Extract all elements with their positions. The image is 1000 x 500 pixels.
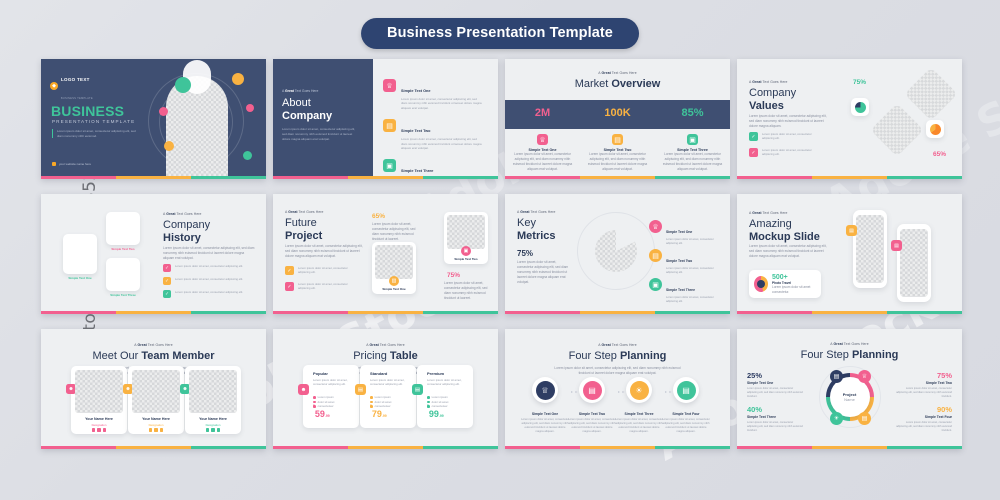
metric-title: Simple Text Two (666, 259, 692, 263)
logo[interactable]: ◆ LOGO TEXT BUSINESS TEMPLATE (50, 68, 93, 104)
slide-pricing-table[interactable]: A Great Text Goes Here Pricing Table Lor… (273, 329, 498, 449)
slide-company-history[interactable]: Simple Text One Simple Text Two Simple T… (41, 194, 266, 314)
photo-caption: Simple Text Two (444, 257, 488, 261)
photo-caption: Simple Text One (63, 276, 97, 280)
photo-card[interactable]: ▥ Simple Text One (372, 242, 416, 294)
slide-business-title[interactable]: ◆ LOGO TEXT BUSINESS TEMPLATE BUSINESS P… (41, 59, 266, 179)
slide-title: FutureProject (285, 217, 322, 242)
slide-title: CompanyValues (749, 87, 796, 112)
team-card[interactable]: ☻ Your Name Here Designation (185, 366, 241, 434)
feature-title: Simple Text Two (401, 129, 430, 133)
social-links[interactable] (71, 428, 127, 432)
briefcase-icon: ▤ (583, 381, 602, 400)
slide-description: Lorem ipsum dolor sit amet, consectetur … (749, 244, 827, 259)
slide-description: Lorem ipsum dolor sit amet, consectetur … (285, 244, 363, 259)
step-body: Lorem ipsum dolor sit amet, consectetur … (615, 418, 663, 434)
stat-value: 85% (655, 107, 730, 119)
slide-title: Four Step Planning (737, 349, 962, 362)
metric-row[interactable]: ♕ Simple Text One Lorem ipsum dolor sit … (649, 220, 722, 246)
stat-body: Lorem ipsum dolor sit amet, consectetur … (896, 421, 952, 433)
feature-body: Lorem ipsum dolor sit amet, consectetur … (401, 97, 483, 110)
website-label: your website name here (52, 162, 91, 166)
metric-title: Simple Text One (666, 230, 692, 234)
photo-caption: Simple Text Two (106, 247, 140, 251)
metric-body: Lorem ipsum dolor sit amet, consectetur … (666, 267, 722, 275)
stat-block[interactable]: 40% Simple Text Three Lorem ipsum dolor … (747, 405, 803, 433)
image-placeholder (63, 234, 97, 274)
donut-card (926, 120, 944, 138)
check-icon: ✓ (163, 277, 171, 285)
slide-description: Lorem ipsum dolor sit amet, consectetur … (52, 129, 138, 138)
plan-body: Lorem ipsum dolor sit amet, consectetur … (313, 378, 353, 386)
slide-footer-bar (737, 446, 962, 449)
stat-value: 100K (580, 107, 655, 119)
slide-footer-bar (505, 446, 730, 449)
eyebrow: A Great Text Goes Here (273, 343, 498, 347)
stat-title: Simple Text One (747, 381, 803, 385)
stat-title: Simple Text Three (747, 415, 803, 419)
stat-card[interactable]: 500+ Photo Travel Lorem ipsum dolor sit … (749, 270, 821, 298)
bank-icon: ▤ (677, 381, 696, 400)
image-placeholder (904, 67, 958, 121)
image-placeholder (132, 370, 180, 413)
stat-percent: 75% (447, 272, 460, 279)
slide-title: BUSINESS (51, 103, 124, 119)
image-placeholder (870, 103, 924, 157)
list-item[interactable]: ✓ Lorem ipsum dolor sit amet, consectetu… (163, 264, 247, 272)
slide-four-step-planning[interactable]: A Great Text Goes Here Four Step Plannin… (505, 329, 730, 449)
stat-body: Lorem ipsum dolor sit amet consectetur. (772, 285, 816, 295)
slide-market-overview[interactable]: A Great Text Goes Here Market Overview 2… (505, 59, 730, 179)
list-text: Lorem ipsum dolor sit amet, consectetur … (175, 277, 247, 285)
eyebrow: A Great Text Goes Here (737, 342, 962, 346)
stat-body: Lorem ipsum dolor sit amet, consectetur … (747, 387, 803, 399)
photo-caption: Simple Text Three (106, 293, 140, 297)
plan-name: Premium (427, 371, 444, 376)
pricing-card[interactable]: ▤ Premium Lorem ipsum dolor sit amet, co… (417, 365, 473, 428)
slide-subtitle: PRESENTATION TEMPLATE (52, 119, 135, 124)
member-name: Your Name Here (128, 417, 184, 421)
slide-header: A Great Text Goes Here Market Overview (505, 71, 730, 91)
slide-four-step-circle[interactable]: A Great Text Goes Here Four Step Plannin… (737, 329, 962, 449)
check-icon: ✓ (163, 290, 171, 298)
slide-footer-bar (41, 446, 266, 449)
step-circle: ▤ (673, 377, 699, 403)
slide-header: A Great Text Goes Here Four Step Plannin… (505, 343, 730, 376)
step-item[interactable]: ☀ Simple Text Three Lorem ipsum dolor si… (615, 377, 663, 434)
step-title: Simple Text One (521, 412, 569, 416)
briefcase-icon: ▤ (383, 119, 396, 132)
check-icon: ✓ (749, 148, 758, 157)
trophy-icon: ♕ (649, 220, 662, 233)
trophy-icon: ♕ (858, 370, 871, 383)
eyebrow: A Great Text Goes Here (505, 343, 730, 347)
check-item[interactable]: ✓ Lorem ipsum dolor sit amet, consectetu… (285, 282, 360, 291)
metric-body: Lorem ipsum dolor sit amet, consectetur … (666, 296, 722, 304)
slide-footer-bar (273, 311, 498, 314)
stat-body: Lorem ipsum dolor sit amet, consectetur … (896, 387, 952, 399)
metric-row[interactable]: ▤ Simple Text Two Lorem ipsum dolor sit … (649, 249, 722, 275)
donut-label-75: 75% (853, 79, 866, 86)
bubble-orange (232, 73, 244, 85)
plan-body: Lorem ipsum dolor sit amet, consectetur … (370, 378, 410, 386)
slide-title: Four Step Planning (505, 350, 730, 363)
plan-price: $99.99 (427, 404, 444, 422)
step-circle: ♕ (532, 377, 558, 403)
list-text: Lorem ipsum dolor sit amet, consectetur … (175, 290, 247, 298)
slide-footer-bar (273, 446, 498, 449)
eyebrow: A Great Text Goes Here (749, 211, 788, 215)
trophy-icon: ♕ (537, 134, 548, 145)
stat-title: Simple Text Two (896, 381, 952, 385)
step-body: Lorem ipsum dolor sit amet, consectetur … (568, 418, 616, 434)
image-placeholder (900, 229, 928, 297)
bullet-icon (52, 162, 56, 166)
donut-chart-75 (855, 102, 866, 113)
cart-icon: ▤ (412, 384, 423, 395)
team-card[interactable]: ☻ Your Name Here Designation (128, 366, 184, 434)
image-placeholder (189, 370, 237, 413)
briefcase-icon: ▤ (612, 134, 623, 145)
list-item[interactable]: ✓ Lorem ipsum dolor sit amet, consectetu… (163, 277, 247, 285)
phone-mockup[interactable] (897, 224, 931, 302)
photo-card[interactable]: ▣ Simple Text Two (444, 212, 488, 264)
stat-block[interactable]: 25% Simple Text One Lorem ipsum dolor si… (747, 371, 803, 399)
stat-body: Lorem ipsum dolor sit amet, consectetur … (512, 152, 573, 172)
logo-mark-icon: ◆ (50, 82, 58, 90)
feature-row[interactable]: ▤ Simple Text Two Lorem ipsum dolor sit … (383, 119, 483, 150)
step-title: Simple Text Three (615, 412, 663, 416)
eyebrow: A Great Text Goes Here (41, 343, 266, 347)
phone-mockup[interactable] (853, 210, 887, 288)
step-body: Lorem ipsum dolor sit amet, consectetur … (521, 418, 569, 434)
stat-column[interactable]: ▣ Simple Text Three Lorem ipsum dolor si… (655, 134, 730, 172)
stat-body: Lorem ipsum dolor sit amet, consectetur … (587, 152, 648, 172)
image-placeholder (75, 370, 123, 413)
stat-title: Simple Text Four (896, 415, 952, 419)
eyebrow: A Great Text Goes Here (282, 89, 318, 93)
check-text: Lorem ipsum dolor sit amet, consectetur … (298, 266, 360, 275)
image-placeholder (856, 215, 884, 283)
slide-title: KeyMetrics (517, 217, 556, 242)
pricing-card[interactable]: ☻ Popular Lorem ipsum dolor sit amet, co… (303, 365, 359, 428)
stat-body: Lorem ipsum dolor sit amet, consectetur … (372, 222, 416, 242)
page-title: Business Presentation Template (361, 18, 639, 49)
slide-title: Meet Our Team Member (41, 350, 266, 363)
slide-header: A Great Text Goes Here Four Step Plannin… (737, 342, 962, 362)
image-placeholder (106, 212, 140, 245)
eyebrow: A Great Text Goes Here (749, 80, 788, 84)
step-body: Lorem ipsum dolor sit amet, consectetur … (662, 418, 710, 434)
user-icon: ☻ (298, 384, 309, 395)
step-circle: ▤ (579, 377, 605, 403)
chart-icon: ▥ (389, 276, 399, 286)
person-photo-placeholder (166, 76, 228, 176)
stat-value: 2M (505, 107, 580, 119)
slide-future-project[interactable]: A Great Text Goes Here FutureProject Lor… (273, 194, 498, 314)
document-icon: ▣ (687, 134, 698, 145)
step-title: Simple Text Two (568, 412, 616, 416)
slide-footer-bar (273, 176, 498, 179)
social-links[interactable] (128, 428, 184, 432)
bulb-icon: ☀ (630, 381, 649, 400)
bubble-green (175, 77, 191, 93)
plan-price: $59.99 (313, 404, 330, 422)
camera-icon (754, 276, 768, 292)
stat-body: Lorem ipsum dolor sit amet, consectetur … (662, 152, 723, 172)
stat-block[interactable]: 75% Simple Text Two Lorem ipsum dolor si… (896, 371, 952, 399)
plan-price: $79.99 (370, 404, 387, 422)
briefcase-icon: ▤ (649, 249, 662, 262)
logo-text: LOGO TEXT (61, 77, 90, 82)
bag-icon: ▤ (355, 384, 366, 395)
slide-grid: ◆ LOGO TEXT BUSINESS TEMPLATE BUSINESS P… (41, 59, 963, 449)
slide-company-values[interactable]: A Great Text Goes Here CompanyValues Lor… (737, 59, 962, 179)
pricing-card[interactable]: ▤ Standard Lorem ipsum dolor sit amet, c… (360, 365, 416, 428)
donut-card (851, 98, 869, 116)
metric-percent: 75% (517, 249, 533, 258)
stat-percent: 65% (372, 213, 385, 220)
donut-chart-65 (930, 124, 941, 135)
step-item[interactable]: ▤ Simple Text Four Lorem ipsum dolor sit… (662, 377, 710, 434)
slide-title: Market Overview (505, 78, 730, 91)
bank-icon: ▤ (830, 370, 843, 383)
member-role: Designation (128, 423, 184, 427)
stat-percent: 40% (747, 405, 803, 414)
stat-percent: 25% (747, 371, 803, 380)
image-placeholder (447, 215, 485, 249)
stat-value: 500+ (772, 274, 816, 281)
logo-subtext: BUSINESS TEMPLATE (61, 97, 93, 100)
stat-column[interactable]: ▤ Simple Text Two Lorem ipsum dolor sit … (580, 134, 655, 172)
slide-footer-bar (737, 176, 962, 179)
bubble-orange (164, 141, 174, 151)
member-name: Your Name Here (71, 417, 127, 421)
slide-mockup[interactable]: A Great Text Goes Here AmazingMockup Sli… (737, 194, 962, 314)
briefcase-icon: ▤ (858, 412, 871, 425)
check-icon: ✓ (285, 266, 294, 275)
cart-icon: ▤ (891, 240, 902, 251)
bag-icon: ▤ (846, 225, 857, 236)
team-card[interactable]: ☻ Your Name Here Designation (71, 366, 127, 434)
eyebrow: A Great Text Goes Here (285, 210, 324, 214)
slide-key-metrics[interactable]: A Great Text Goes Here KeyMetrics 75% Lo… (505, 194, 730, 314)
slide-description: Lorem ipsum dolor sit amet, consectetur … (749, 114, 827, 129)
metric-title: Simple Text Three (666, 288, 695, 292)
document-icon: ▣ (461, 246, 471, 256)
step-title: Simple Text Four (662, 412, 710, 416)
bulb-icon: ☀ (830, 412, 843, 425)
stat-values: 2M 100K 85% (505, 107, 730, 119)
check-icon: ✓ (749, 132, 758, 141)
list-item[interactable]: ✓ Lorem ipsum dolor sit amet, consectetu… (163, 290, 247, 298)
slide-description: Lorem ipsum dolor sit amet, consectetur … (517, 260, 573, 285)
slide-footer-bar (737, 311, 962, 314)
list-text: Lorem ipsum dolor sit amet, consectetur … (175, 264, 247, 272)
social-links[interactable] (185, 428, 241, 432)
slide-team-member[interactable]: A Great Text Goes Here Meet Our Team Mem… (41, 329, 266, 449)
check-item[interactable]: ✓ Lorem ipsum dolor sit amet, consectetu… (285, 266, 360, 275)
image-placeholder (106, 258, 140, 291)
feature-rows: ♕ Simple Text One Lorem ipsum dolor sit … (383, 79, 483, 179)
hub-label: Project Name (830, 377, 870, 417)
document-icon: ▣ (649, 278, 662, 291)
website-text: your website name here (59, 162, 91, 166)
check-icon: ✓ (163, 264, 171, 272)
stat-body: Lorem ipsum dolor sit amet, consectetur … (747, 421, 803, 433)
slide-description: Lorem ipsum dolor sit amet, consectetur … (553, 366, 683, 376)
slide-footer-bar (41, 176, 266, 179)
plan-body: Lorem ipsum dolor sit amet, consectetur … (427, 378, 467, 386)
step-circle: ☀ (626, 377, 652, 403)
slide-title: AboutCompany (282, 97, 332, 122)
hub-line-2: Name (844, 397, 855, 402)
slide-title: CompanyHistory (163, 219, 210, 244)
metric-body: Lorem ipsum dolor sit amet, consectetur … (666, 238, 722, 246)
slide-footer-bar (505, 176, 730, 179)
photo-caption: Simple Text One (372, 287, 416, 291)
feature-title: Simple Text One (401, 89, 430, 93)
donut-label-65: 65% (933, 151, 946, 158)
bubble-pink (159, 107, 168, 116)
slide-about-company[interactable]: A Great Text Goes Here AboutCompany Lore… (273, 59, 498, 179)
member-role: Designation (185, 423, 241, 427)
feature-row[interactable]: ♕ Simple Text One Lorem ipsum dolor sit … (383, 79, 483, 110)
bubble-pink (246, 104, 254, 112)
slide-title: AmazingMockup Slide (749, 218, 820, 243)
stat-percent: 75% (896, 371, 952, 380)
slide-title: Pricing Table (273, 350, 498, 363)
slide-description: Lorem ipsum dolor sit amet, consectetur … (282, 127, 360, 141)
metric-row[interactable]: ▣ Simple Text Three Lorem ipsum dolor si… (649, 278, 722, 304)
stat-block[interactable]: 90% Simple Text Four Lorem ipsum dolor s… (896, 405, 952, 433)
slide-description: Lorem ipsum dolor sit amet, consectetur … (163, 246, 255, 261)
plan-name: Standard (370, 371, 387, 376)
trophy-icon: ♕ (383, 79, 396, 92)
check-text: Lorem ipsum dolor sit amet, consectetur … (762, 132, 824, 140)
check-text: Lorem ipsum dolor sit amet, consectetur … (762, 148, 824, 156)
slide-footer-bar (505, 311, 730, 314)
eyebrow: A Great Text Goes Here (505, 71, 730, 75)
slide-footer-bar (41, 311, 266, 314)
plan-name: Popular (313, 371, 328, 376)
stat-column[interactable]: ♕ Simple Text One Lorem ipsum dolor sit … (505, 134, 580, 172)
bubble-green (243, 151, 252, 160)
document-icon: ▣ (383, 159, 396, 172)
trophy-icon: ♕ (536, 381, 555, 400)
image-placeholder (375, 245, 413, 279)
feature-title: Simple Text Three (401, 169, 433, 173)
stat-percent: 90% (896, 405, 952, 414)
step-item[interactable]: ♕ Simple Text One Lorem ipsum dolor sit … (521, 377, 569, 434)
stat-body: Lorem ipsum dolor sit amet, consectetur … (444, 281, 488, 301)
member-name: Your Name Here (185, 417, 241, 421)
eyebrow: A Great Text Goes Here (163, 212, 202, 216)
check-text: Lorem ipsum dolor sit amet, consectetur … (298, 282, 360, 291)
check-item[interactable]: ✓ Lorem ipsum dolor sit amet, consectetu… (749, 148, 824, 157)
stat-columns: ♕ Simple Text One Lorem ipsum dolor sit … (505, 134, 730, 172)
step-item[interactable]: ▤ Simple Text Two Lorem ipsum dolor sit … (568, 377, 616, 434)
feature-body: Lorem ipsum dolor sit amet, consectetur … (401, 137, 483, 150)
eyebrow: A Great Text Goes Here (517, 210, 556, 214)
check-icon: ✓ (285, 282, 294, 291)
check-item[interactable]: ✓ Lorem ipsum dolor sit amet, consectetu… (749, 132, 824, 141)
member-role: Designation (71, 423, 127, 427)
